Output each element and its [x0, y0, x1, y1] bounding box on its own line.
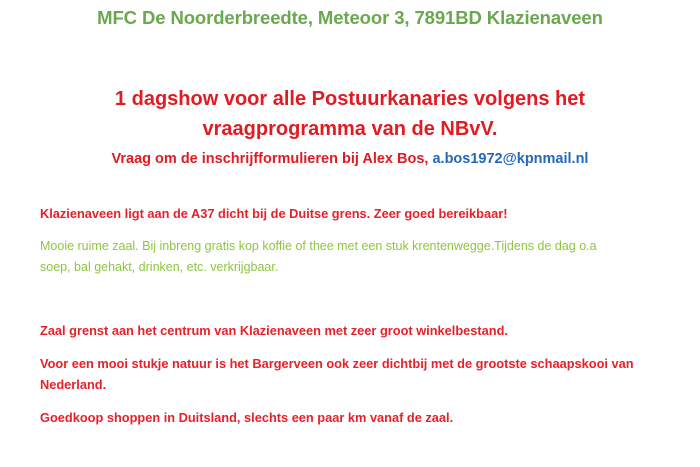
body-content: Klazienaveen ligt aan de A37 dicht bij d…: [40, 203, 660, 428]
show-title: 1 dagshow voor alle Postuurkanaries volg…: [60, 84, 640, 144]
paragraph-town-centre: Zaal grenst aan het centrum van Klaziena…: [40, 320, 660, 341]
spacer: [40, 341, 660, 353]
spacer: [40, 395, 660, 407]
spacer: [40, 299, 660, 320]
spacer: [40, 278, 660, 299]
paragraph-accessibility: Klazienaveen ligt aan de A37 dicht bij d…: [40, 203, 660, 224]
document-page: MFC De Noorderbreedte, Meteoor 3, 7891BD…: [0, 0, 700, 467]
venue-address-heading: MFC De Noorderbreedte, Meteoor 3, 7891BD…: [0, 7, 700, 29]
paragraph-facilities-line-1: Mooie ruime zaal. Bij inbreng gratis kop…: [40, 236, 660, 257]
registration-contact-text: Vraag om de inschrijfformulieren bij Ale…: [112, 151, 429, 167]
paragraph-facilities-line-2: soep, bal gehakt, drinken, etc. verkrijg…: [40, 257, 660, 278]
registration-contact-line: Vraag om de inschrijfformulieren bij Ale…: [50, 151, 650, 167]
spacer: [40, 224, 660, 236]
paragraph-nature-line-2: Nederland.: [40, 374, 660, 395]
paragraph-nature-line-1: Voor een mooi stukje natuur is het Barge…: [40, 353, 660, 374]
contact-email-link[interactable]: a.bos1972@kpnmail.nl: [432, 151, 588, 167]
show-title-line-2: vraagprogramma van de NBvV.: [60, 114, 640, 144]
show-title-line-1: 1 dagshow voor alle Postuurkanaries volg…: [60, 84, 640, 114]
paragraph-shopping: Goedkoop shoppen in Duitsland, slechts e…: [40, 407, 660, 428]
